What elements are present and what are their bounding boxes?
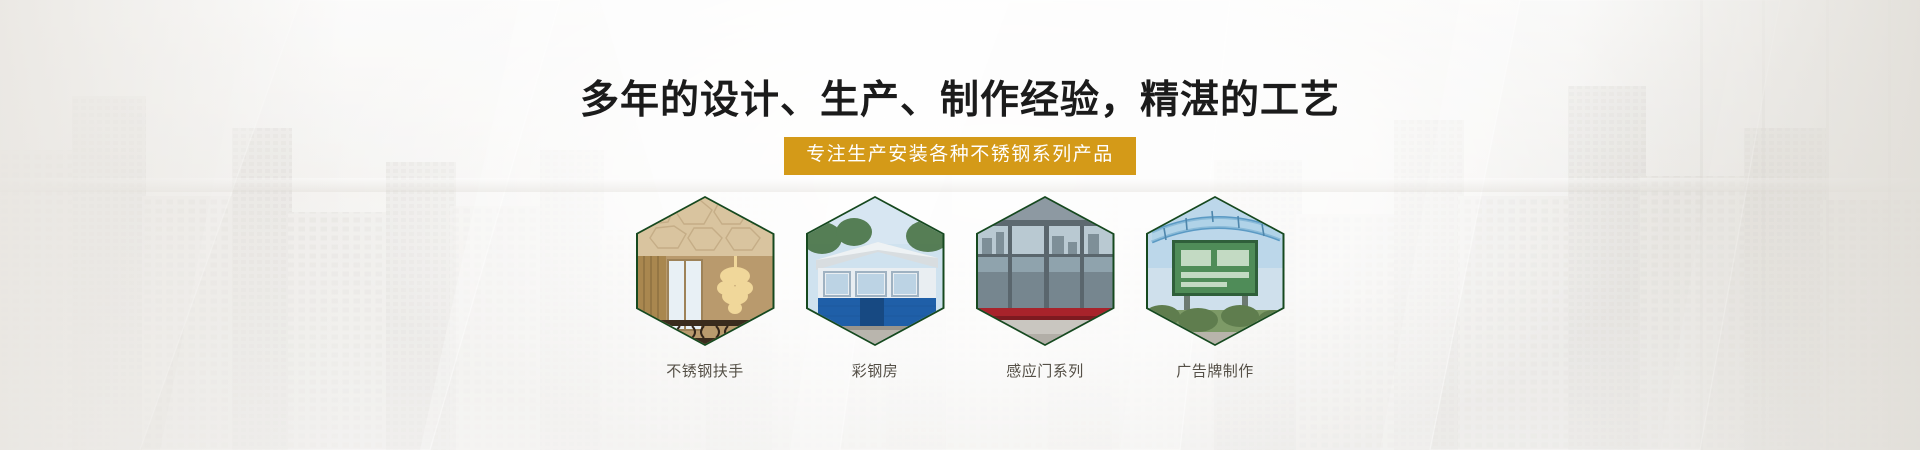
banner-headline: 多年的设计、生产、制作经验，精湛的工艺 xyxy=(0,77,1920,125)
billboard-photo xyxy=(1148,198,1283,344)
product-card-caption: 感应门系列 xyxy=(1006,362,1084,382)
product-card-caption: 彩钢房 xyxy=(852,362,899,382)
product-card-handrail[interactable]: 不锈钢扶手 xyxy=(636,196,775,382)
hexagon-frame[interactable] xyxy=(1146,196,1285,346)
color-steel-room-photo xyxy=(808,198,943,344)
banner-subtitle-badge: 专注生产安装各种不锈钢系列产品 xyxy=(784,137,1136,175)
sensor-door-photo xyxy=(978,198,1113,344)
stainless-handrail-photo xyxy=(638,198,773,344)
hexagon-frame[interactable] xyxy=(976,196,1115,346)
banner-content: 多年的设计、生产、制作经验，精湛的工艺 专注生产安装各种不锈钢系列产品 xyxy=(0,0,1920,450)
product-hexagon-list: 不锈钢扶手 xyxy=(0,196,1920,382)
product-card-billboard[interactable]: 广告牌制作 xyxy=(1146,196,1285,382)
product-card-sensor-door[interactable]: 感应门系列 xyxy=(976,196,1115,382)
product-card-caption: 不锈钢扶手 xyxy=(666,362,744,382)
product-card-color-steel-room[interactable]: 彩钢房 xyxy=(806,196,945,382)
hexagon-frame[interactable] xyxy=(636,196,775,346)
product-card-caption: 广告牌制作 xyxy=(1176,362,1254,382)
hero-banner: 多年的设计、生产、制作经验，精湛的工艺 专注生产安装各种不锈钢系列产品 xyxy=(0,0,1920,450)
hexagon-frame[interactable] xyxy=(806,196,945,346)
banner-badge-row: 专注生产安装各种不锈钢系列产品 xyxy=(0,137,1920,175)
